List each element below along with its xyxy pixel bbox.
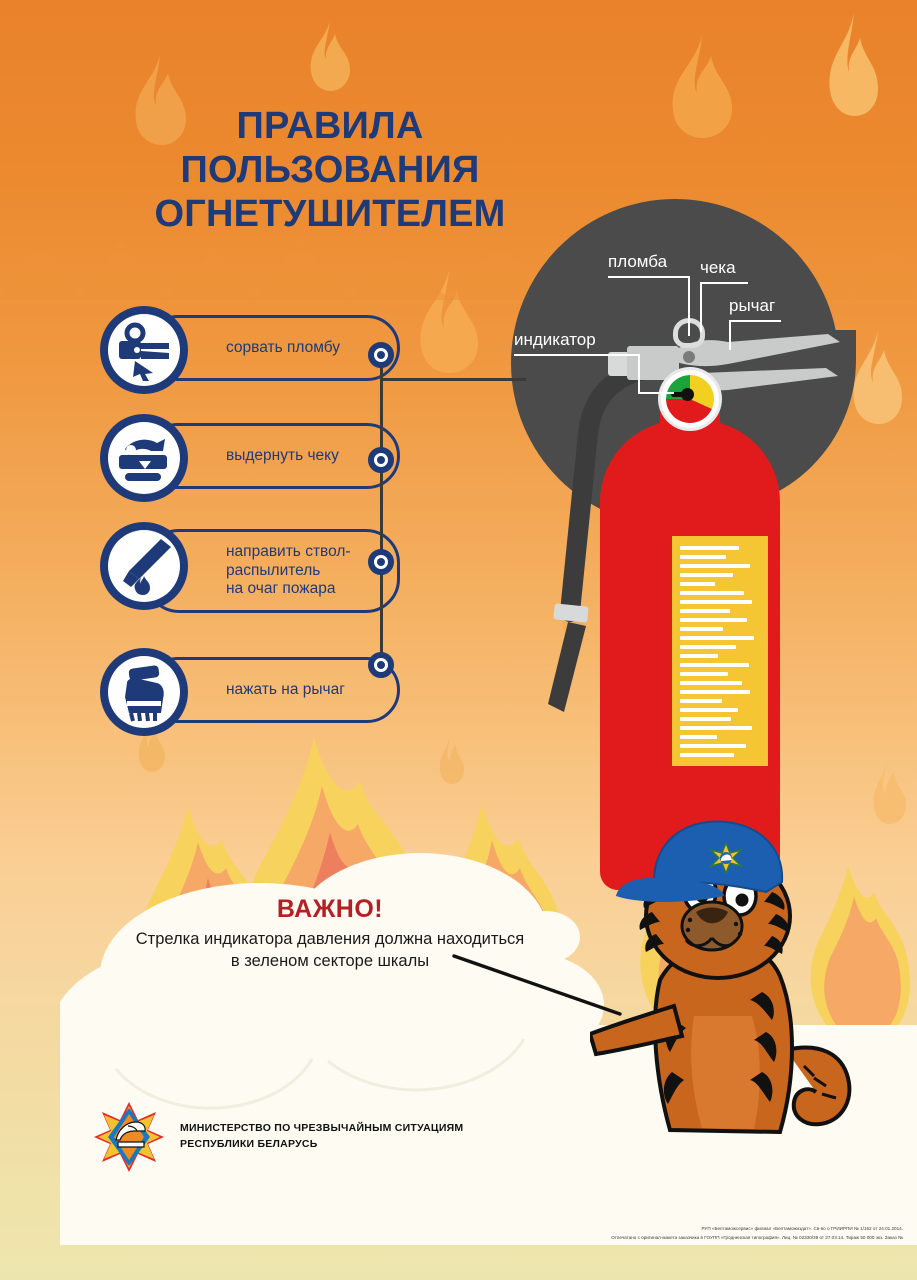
hand-pulling-pin-icon [100, 414, 188, 502]
step-item[interactable]: сорвать пломбу [100, 306, 400, 398]
step-label-text: направить ствол- распылитель на очаг пож… [226, 543, 351, 600]
steps-connector-rail [368, 330, 538, 680]
hand-tearing-seal-icon [100, 306, 188, 394]
background-flame-icon [655, 35, 750, 170]
callout-pin-underline [700, 282, 748, 284]
callout-lever-label: рычаг [729, 296, 775, 316]
hand-pressing-lever-icon [100, 648, 188, 736]
title-line-2: ПОЛЬЗОВАНИЯ [115, 148, 545, 192]
background-flame-icon [300, 20, 360, 115]
title-line-3: ОГНЕТУШИТЕЛЕМ [115, 192, 545, 236]
rail-line [380, 343, 383, 668]
important-heading: ВАЖНО! [120, 895, 540, 924]
rail-dot[interactable] [368, 342, 394, 368]
page-title: ПРАВИЛА ПОЛЬЗОВАНИЯ ОГНЕТУШИТЕЛЕМ [115, 104, 545, 236]
background-flame-icon [818, 12, 888, 142]
ministry-block: МИНИСТЕРСТВО ПО ЧРЕЗВЫЧАЙНЫМ СИТУАЦИЯМ Р… [92, 1100, 463, 1174]
callout-seal-underline [608, 276, 690, 278]
callout-seal-leader [688, 276, 690, 336]
callout-lever-underline [729, 320, 781, 322]
extinguisher-pin-hole [683, 351, 695, 363]
callout-pin-label: чека [700, 258, 736, 278]
fire-extinguisher-safety-poster: ПРАВИЛА ПОЛЬЗОВАНИЯ ОГНЕТУШИТЕЛЕМ [0, 0, 917, 1280]
rail-branch [381, 378, 526, 381]
callout-lever-leader [729, 320, 731, 350]
title-line-1: ПРАВИЛА [115, 104, 545, 148]
imprint-line-2: Отпечатано с оригинал-макета заказчика в… [473, 1234, 903, 1242]
rail-dot[interactable] [368, 447, 394, 473]
important-line-1: Стрелка индикатора давления должна наход… [136, 930, 524, 948]
ministry-line-2: РЕСПУБЛИКИ БЕЛАРУСЬ [180, 1137, 463, 1153]
imprint-text: РУП «Белтаможсервис» филиал «Белтаможизд… [473, 1225, 903, 1242]
rail-dot[interactable] [368, 549, 394, 575]
rail-dot[interactable] [368, 652, 394, 678]
callout-indicator-leader-2 [638, 392, 674, 394]
tiger-mascot [590, 820, 880, 1140]
callout-seal-label: пломба [608, 252, 667, 272]
important-line-2: в зеленом секторе шкалы [231, 952, 429, 970]
imprint-line-1: РУП «Белтаможсервис» филиал «Белтаможизд… [473, 1225, 903, 1233]
step-item[interactable]: направить ствол- распылитель на очаг пож… [100, 522, 400, 632]
callout-indicator-leader [638, 354, 640, 394]
ministry-line-1: МИНИСТЕРСТВО ПО ЧРЕЗВЫЧАЙНЫМ СИТУАЦИЯМ [180, 1121, 463, 1137]
ministry-name: МИНИСТЕРСТВО ПО ЧРЕЗВЫЧАЙНЫМ СИТУАЦИЯМ Р… [180, 1121, 463, 1153]
pressure-gauge-hub [681, 388, 694, 401]
steps-list: сорвать пломбу выдернуть чеку [100, 306, 400, 756]
nozzle-aimed-at-fire-icon [100, 522, 188, 610]
callout-pin-leader [700, 282, 702, 332]
pressure-gauge [661, 370, 719, 428]
step-item[interactable]: выдернуть чеку [100, 414, 400, 506]
mchs-emblem-icon [92, 1100, 166, 1174]
